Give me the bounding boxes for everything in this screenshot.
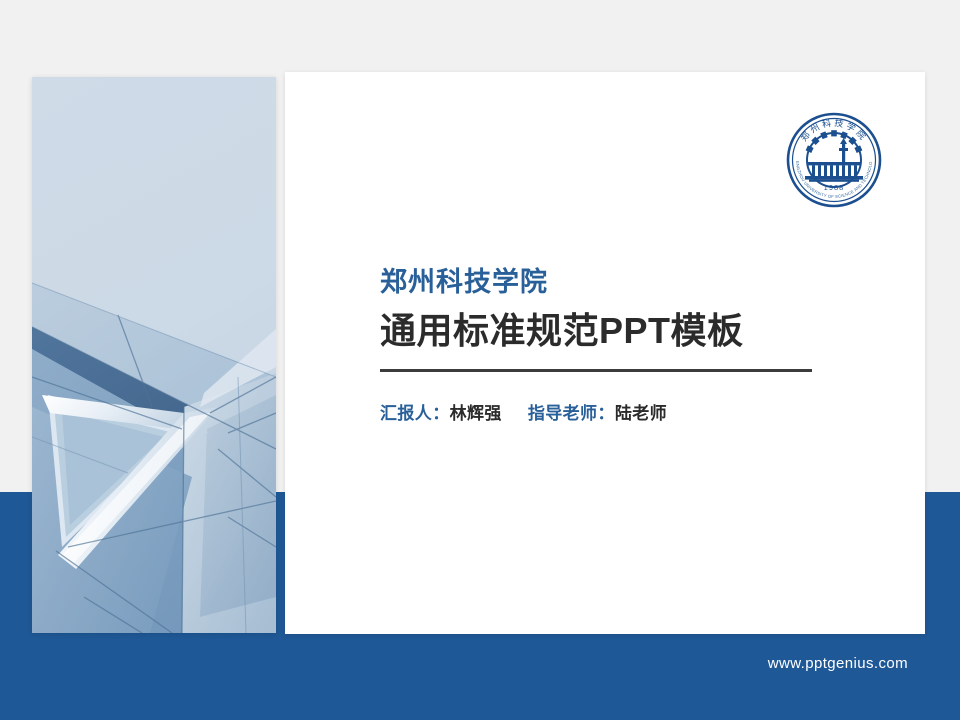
title-divider [380, 369, 812, 372]
advisor-label: 指导老师： [528, 404, 615, 423]
school-name: 郑州科技学院 [380, 266, 900, 300]
presentation-slide: 郑州科技学院 1988 ZHENGZHOU UNIVERSITY OF SCIE… [0, 0, 960, 720]
presenter-row: 汇报人：林辉强指导老师：陆老师 [380, 399, 900, 424]
advisor-name: 陆老师 [615, 404, 667, 423]
university-emblem-icon: 郑州科技学院 1988 ZHENGZHOU UNIVERSITY OF SCIE… [778, 104, 890, 216]
title-block: 郑州科技学院 通用标准规范PPT模板 汇报人：林辉强指导老师：陆老师 [380, 266, 900, 424]
presenter-name: 林辉强 [450, 404, 502, 423]
logo-year: 1988 [824, 183, 845, 192]
architecture-photo [32, 77, 276, 633]
footer-url[interactable]: www.pptgenius.com [768, 655, 908, 672]
architecture-photo-art [32, 77, 276, 633]
university-logo: 郑州科技学院 1988 ZHENGZHOU UNIVERSITY OF SCIE… [778, 104, 890, 216]
presenter-label: 汇报人： [380, 404, 450, 423]
page-title: 通用标准规范PPT模板 [380, 309, 900, 352]
